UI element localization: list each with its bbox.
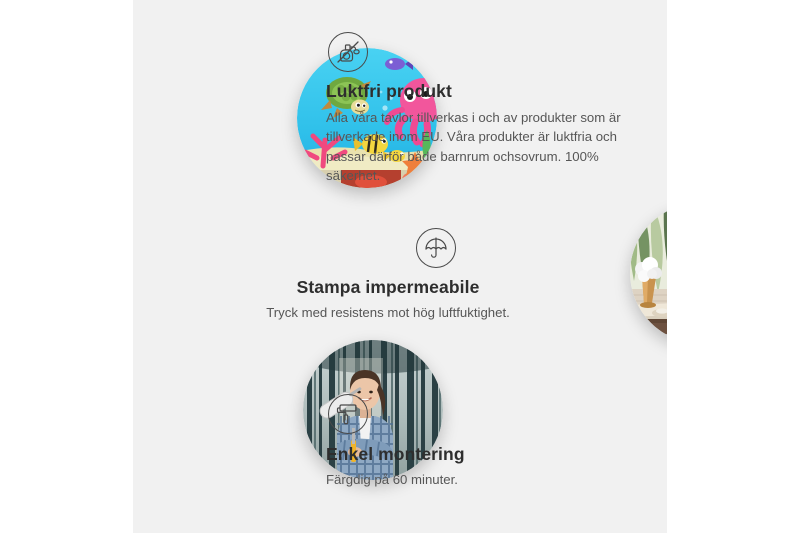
feature-odourless: Luktfri produkt Alla våra tavlor tillver… (326, 32, 631, 186)
photo-bathroom-tropical-wallpaper (630, 203, 667, 343)
feature-easy-install: Enkel montering Färgdig på 60 minuter. (326, 394, 606, 489)
umbrella-icon (416, 228, 456, 268)
feature-title: Stampa impermeabile (218, 277, 558, 298)
infographic-page: Luktfri produkt Alla våra tavlor tillver… (0, 0, 800, 533)
feature-title: Enkel montering (326, 444, 606, 465)
no-fragrance-icon (328, 32, 368, 72)
feature-body: Tryck med resistens mot hög luftfuktighe… (218, 303, 558, 322)
content-panel: Luktfri produkt Alla våra tavlor tillver… (133, 0, 667, 533)
feature-body: Alla våra tavlor tillverkas i och av pro… (326, 108, 631, 186)
paint-roller-icon (328, 394, 368, 434)
feature-waterproof: Stampa impermeabile Tryck med resistens … (218, 228, 558, 322)
feature-body: Färgdig på 60 minuter. (326, 470, 606, 489)
feature-title: Luktfri produkt (326, 81, 631, 102)
